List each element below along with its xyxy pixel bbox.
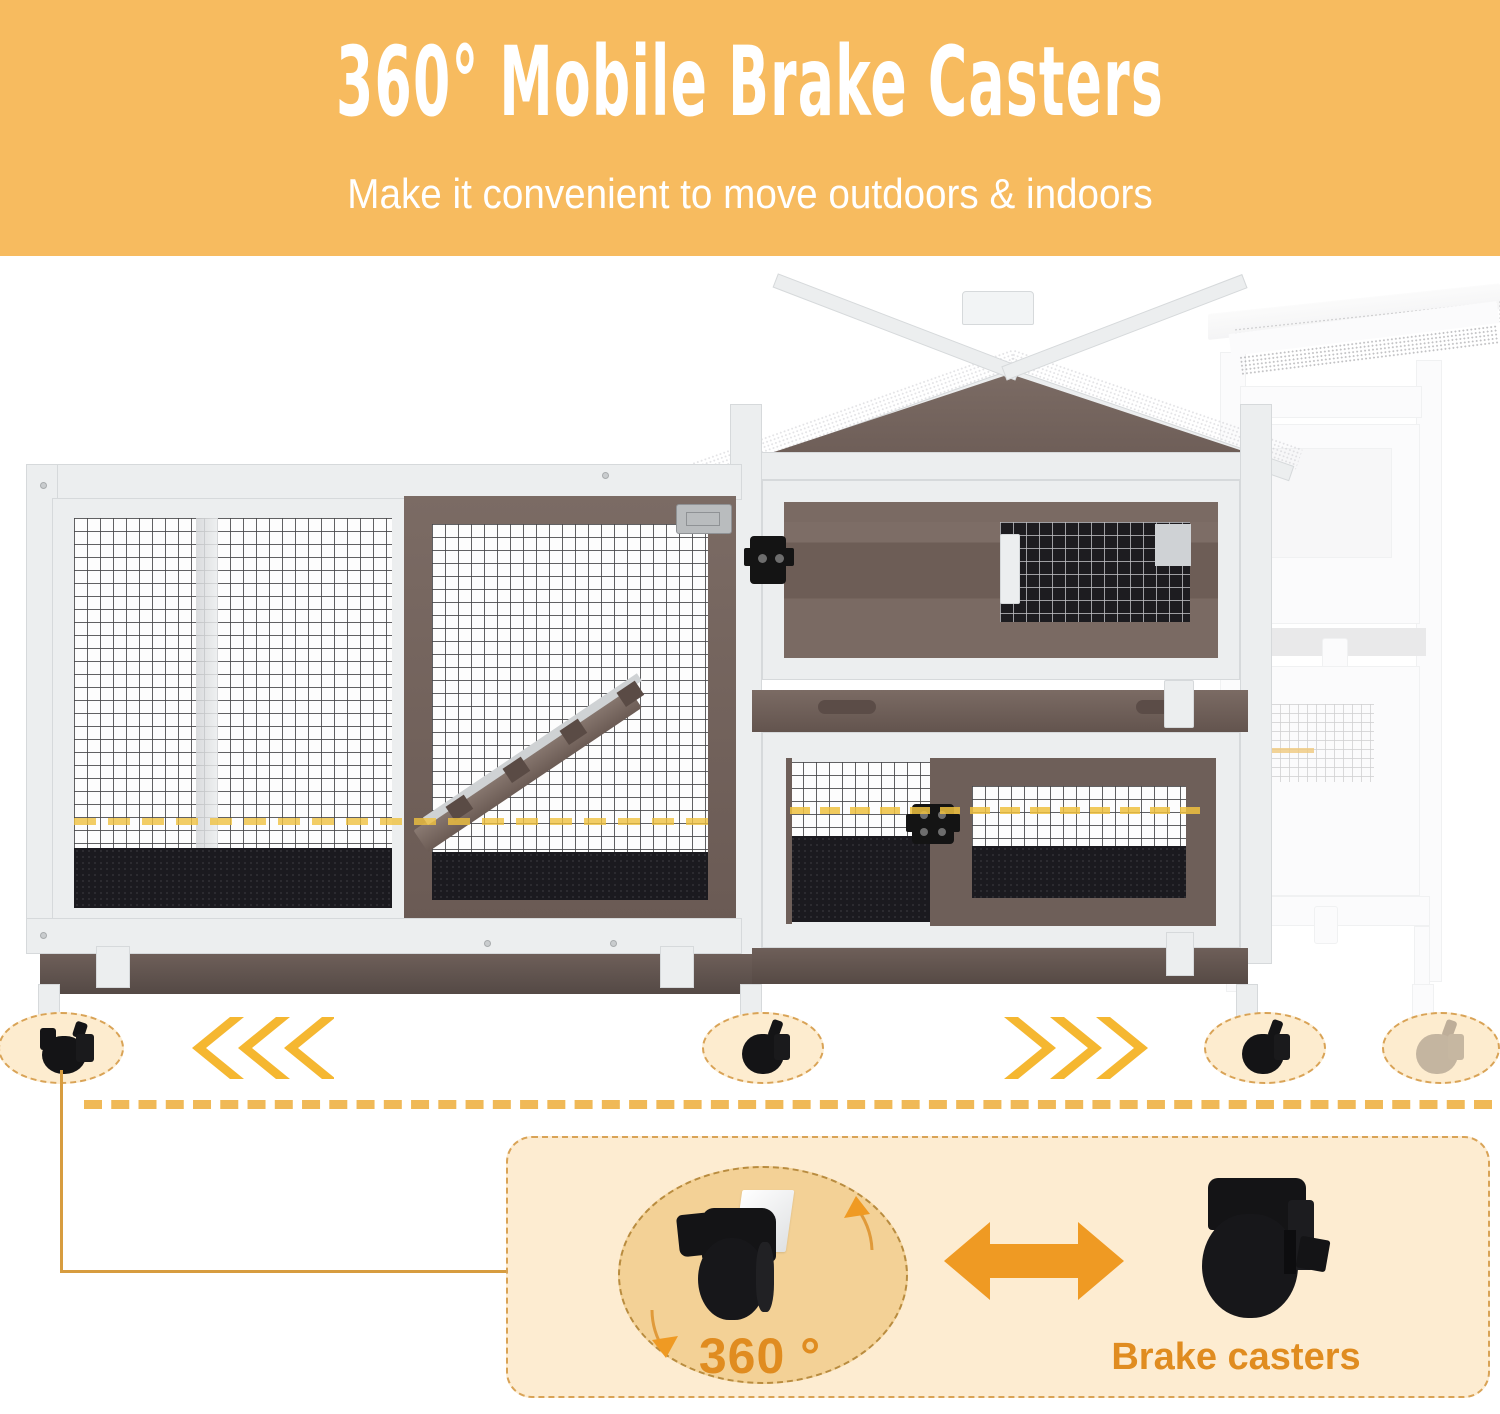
banner-title: 360° Mobile Brake Casters (285, 34, 1215, 130)
caster-1 (38, 1022, 100, 1076)
swivel-caster-360 (672, 1190, 852, 1340)
move-left-chevrons (184, 1017, 334, 1079)
ground-guide-line (84, 1100, 1492, 1109)
caster-2 (740, 1020, 802, 1076)
comparison-double-arrow (944, 1216, 1124, 1306)
banner-subtitle: Make it convenient to move outdoors & in… (60, 170, 1440, 218)
caster-3 (1240, 1020, 1302, 1076)
callout-connector-vertical (60, 1070, 63, 1272)
caster-4-ghost (1414, 1020, 1476, 1076)
label-brake-casters: Brake casters (1086, 1336, 1386, 1379)
product-illustration (0, 256, 1500, 1046)
label-360-degree: 360 ° (660, 1327, 860, 1385)
locked-brake-caster (1168, 1178, 1358, 1338)
move-right-chevrons (1000, 1017, 1150, 1079)
callout-connector-horizontal (60, 1270, 508, 1273)
header-banner: 360° Mobile Brake Casters Make it conven… (0, 0, 1500, 256)
lower-door-left[interactable] (786, 758, 792, 924)
house-post-right (1240, 404, 1272, 964)
